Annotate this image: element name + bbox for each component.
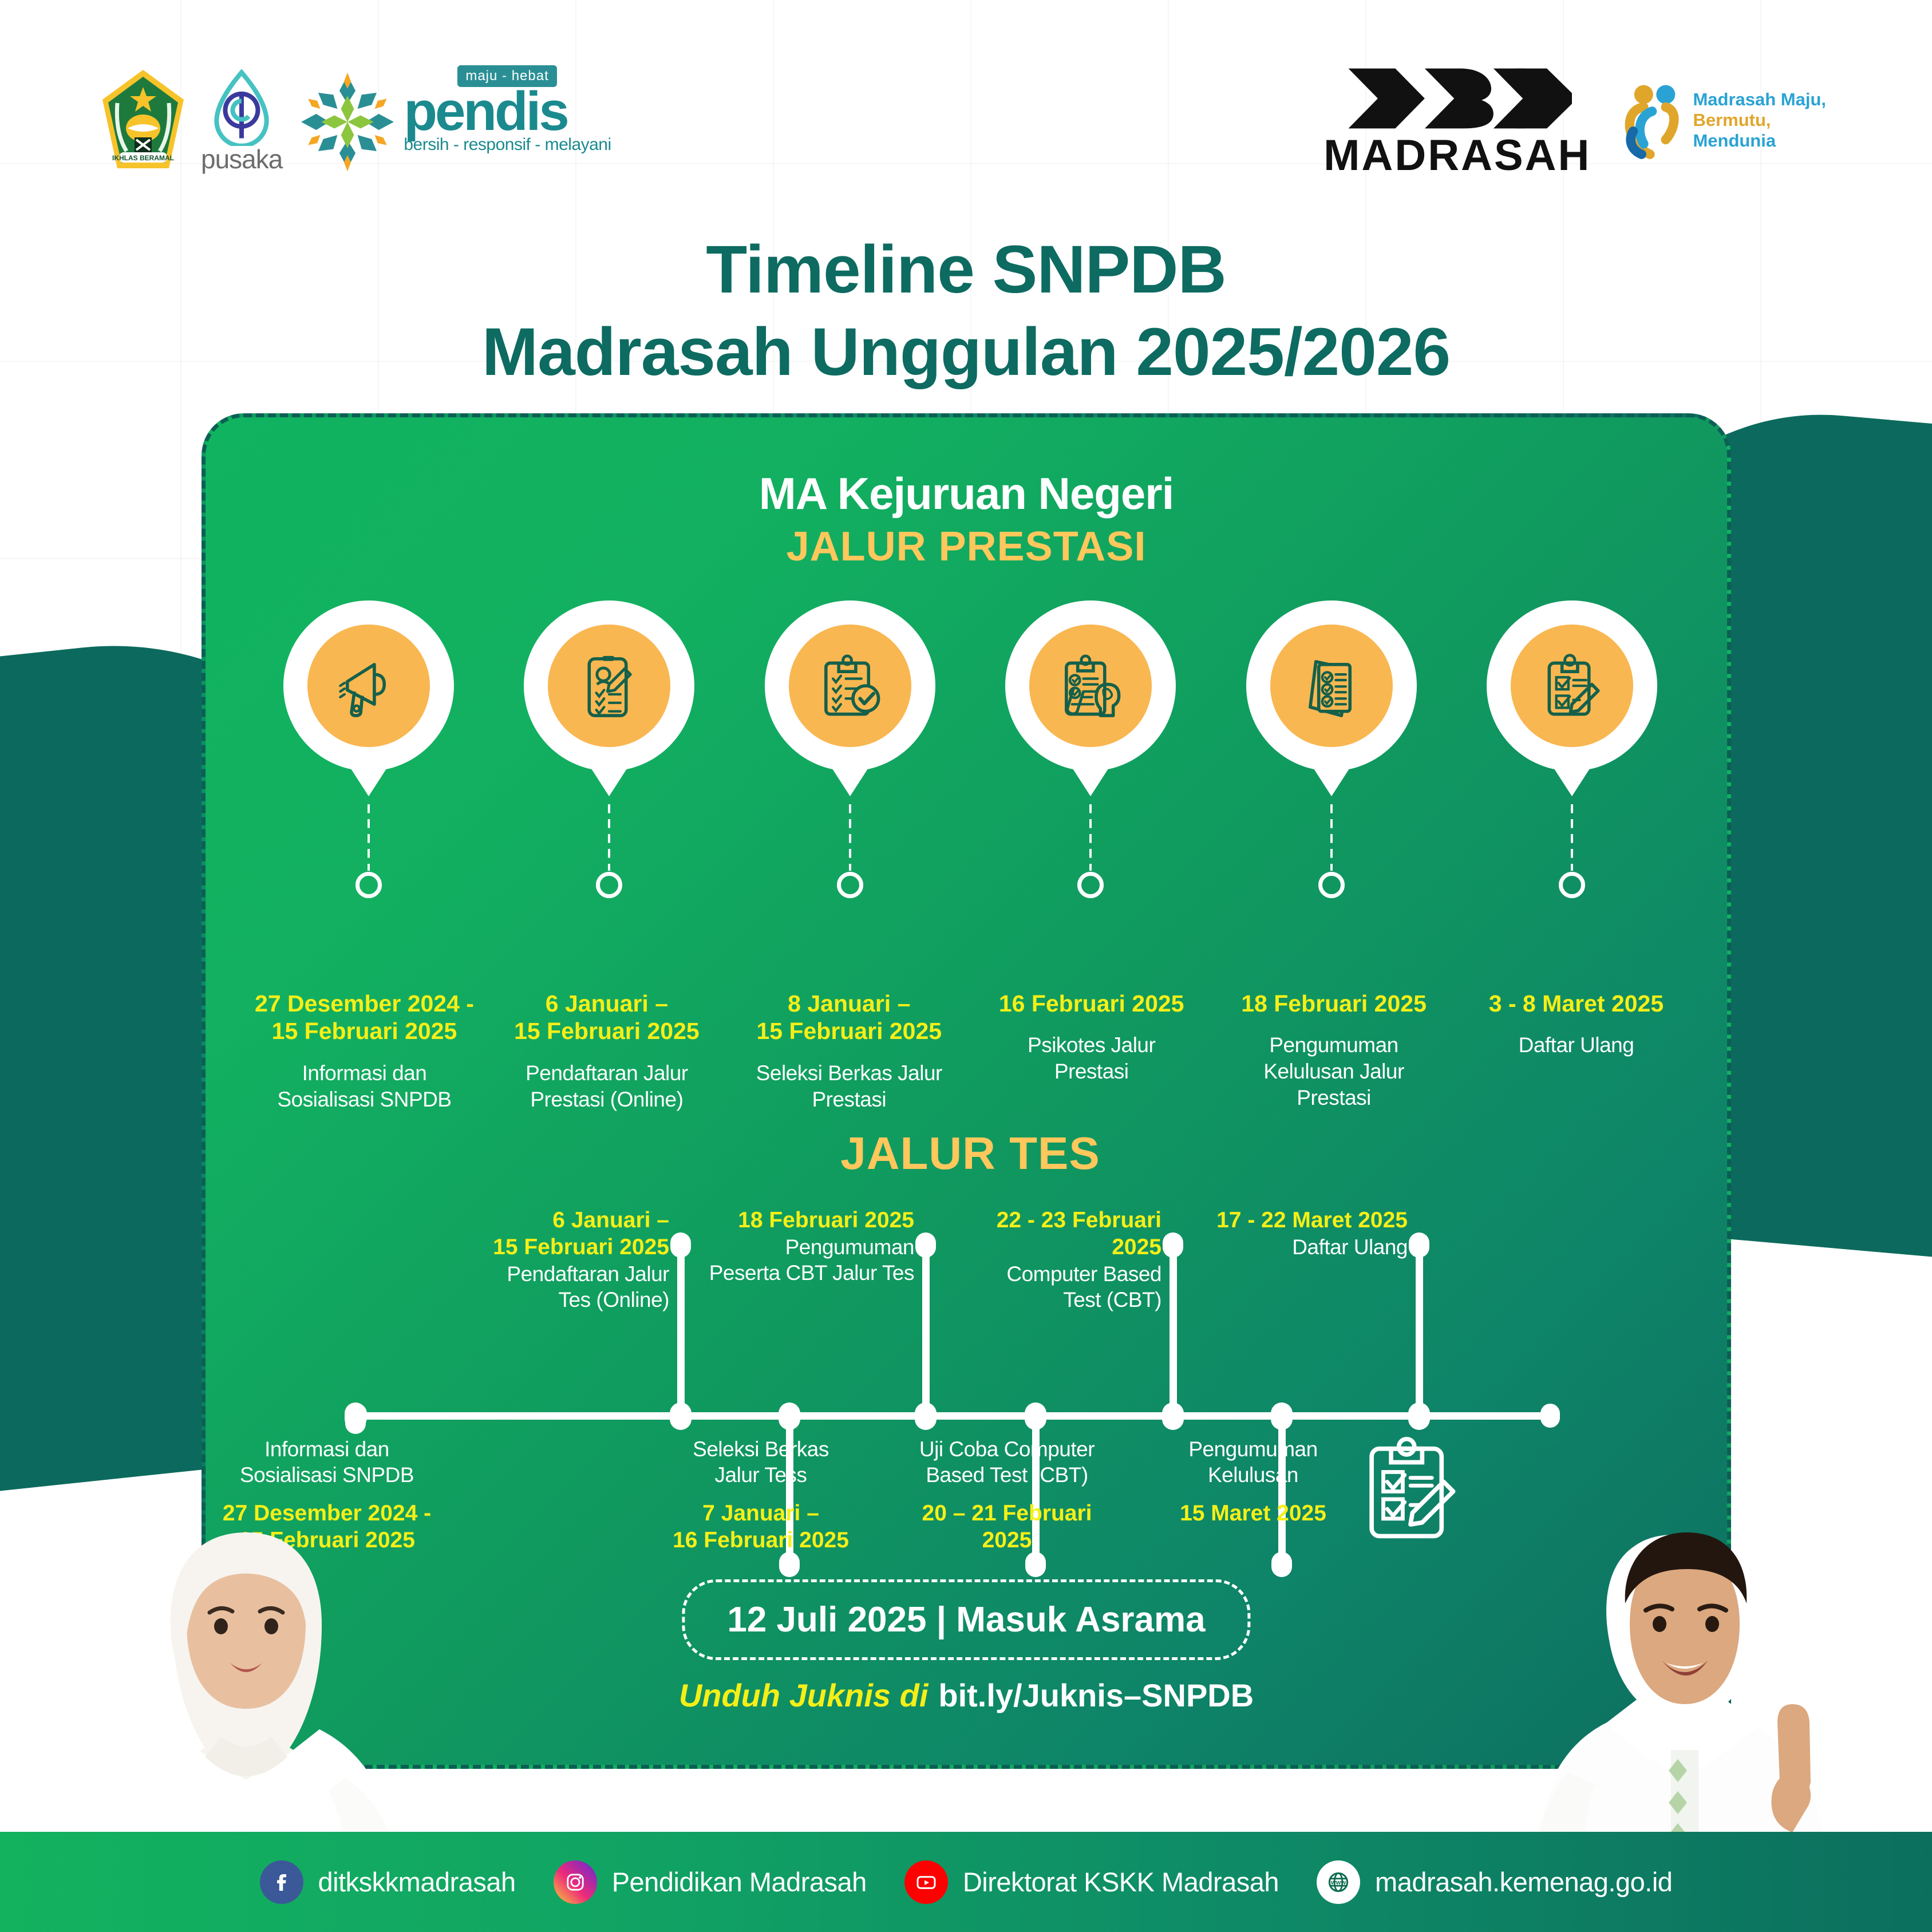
svg-text:IKHLAS BERAMAL: IKHLAS BERAMAL [112, 154, 174, 162]
prestasi-pin-5 [1246, 600, 1417, 771]
prestasi-label: PengumumanKelulusan JalurPrestasi [1221, 1032, 1447, 1111]
psychotest-brain-icon [1029, 625, 1152, 747]
prestasi-date-block-4: 16 Februari 2025Psikotes JalurPrestasi [978, 990, 1204, 1113]
prestasi-step-5 [1237, 600, 1426, 898]
pin-connector [1571, 804, 1573, 871]
page-title: Timeline SNPDB Madrasah Unggulan 2025/20… [0, 229, 1932, 394]
prestasi-step-4 [996, 600, 1185, 898]
footer-item-2[interactable]: Pendidikan Madrasah [554, 1860, 867, 1904]
footer-item-label: Pendidikan Madrasah [612, 1866, 867, 1898]
tes-above-block-3: 22 - 23 Februari2025Computer BasedTest (… [921, 1207, 1161, 1313]
prestasi-date-block-2: 6 Januari –15 Februari 2025Pendaftaran J… [493, 990, 720, 1113]
prestasi-date: 18 Februari 2025 [1221, 990, 1447, 1017]
tes-label: PengumumanPeserta CBT Jalur Tes [674, 1234, 914, 1286]
timeline-node [355, 872, 382, 898]
pin-connector [608, 804, 610, 871]
title-line-2: Madrasah Unggulan 2025/2026 [0, 311, 1932, 394]
unduh-label: Unduh Juknis di [679, 1677, 929, 1713]
footer-item-1[interactable]: ditkskkmadrasah [260, 1860, 516, 1904]
infographic-page: IKHLAS BERAMAL pusaka [0, 0, 1932, 1932]
prestasi-pin-2 [524, 600, 694, 771]
timeline-node [1318, 872, 1345, 898]
timeline-node [596, 872, 622, 898]
facebook-icon[interactable] [260, 1860, 303, 1904]
tes-label: Pendaftaran JalurTes (Online) [429, 1261, 669, 1313]
prestasi-date: 6 Januari –15 Februari 2025 [493, 990, 720, 1045]
tes-below-block-4: PengumumanKelulusan15 Maret 2025 [1133, 1436, 1373, 1527]
prestasi-date-block-5: 18 Februari 2025PengumumanKelulusan Jalu… [1221, 990, 1447, 1113]
website-icon[interactable]: www [1317, 1860, 1360, 1904]
timeline-node [837, 872, 863, 898]
two-people-icon [1621, 80, 1684, 160]
prestasi-pin-3 [765, 600, 935, 771]
pendis-logo: maju - hebat pendis bersih - responsif -… [297, 72, 611, 172]
left-logo-group: IKHLAS BERAMAL pusaka [100, 68, 611, 176]
unduh-link[interactable]: bit.ly/Juknis–SNPDB [938, 1677, 1254, 1713]
pendis-subtitle: bersih - responsif - melayani [404, 135, 611, 155]
unduh-juknis: Unduh Juknis dibit.ly/Juknis–SNPDB [679, 1677, 1254, 1714]
stem-cap [1271, 1552, 1292, 1577]
tes-label: Seleksi BerkasJalur Tess [641, 1436, 881, 1488]
stem-cap [1409, 1232, 1429, 1258]
prestasi-date: 8 Januari –15 Februari 2025 [736, 990, 962, 1045]
prestasi-pin-1 [283, 600, 454, 771]
timeline-node [1559, 872, 1585, 898]
prestasi-label: Daftar Ulang [1463, 1032, 1689, 1058]
prestasi-date-block-3: 8 Januari –15 Februari 2025Seleksi Berka… [736, 990, 962, 1113]
right-logo-group: MADRASAH Madrasah Maju, Bermutu, Menduni… [1323, 63, 1826, 177]
footer-item-label: madrasah.kemenag.go.id [1375, 1866, 1672, 1898]
pendis-label: pendis [404, 89, 611, 135]
tes-below-block-2: Seleksi BerkasJalur Tess7 Januari –16 Fe… [641, 1436, 881, 1554]
pendis-mark-icon [297, 72, 398, 172]
tes-label: Informasi danSosialisasi SNPDB [207, 1436, 447, 1488]
stem-cap [1025, 1552, 1046, 1577]
prestasi-step-6 [1477, 600, 1666, 898]
axis-cap-end [1540, 1404, 1560, 1428]
megaphone-icon [307, 625, 430, 747]
madrasah-label: MADRASAH [1323, 134, 1591, 177]
tes-date: 18 Februari 2025 [674, 1207, 914, 1234]
clipboard-pencil-icon [1362, 1435, 1459, 1544]
header-logos: IKHLAS BERAMAL pusaka [0, 0, 1932, 218]
tes-date: 6 Januari –15 Februari 2025 [429, 1207, 669, 1261]
footer-item-3[interactable]: Direktorat KSKK Madrasah [904, 1860, 1279, 1904]
prestasi-pin-6 [1487, 600, 1657, 771]
documents-list-icon [1270, 625, 1393, 747]
pusaka-logo: pusaka [201, 69, 282, 175]
tes-label: PengumumanKelulusan [1133, 1436, 1373, 1488]
prestasi-date: 27 Desember 2024 -15 Februari 2025 [251, 990, 477, 1045]
tes-above-block-1: 6 Januari –15 Februari 2025Pendaftaran J… [429, 1207, 669, 1313]
mmbm-line3: Mendunia [1693, 131, 1826, 151]
tes-date: 17 - 22 Maret 2025 [1167, 1207, 1408, 1234]
instagram-icon[interactable] [554, 1860, 597, 1904]
title-line-1: Timeline SNPDB [0, 229, 1932, 311]
kemenag-logo: IKHLAS BERAMAL [100, 68, 186, 176]
tes-below-block-3: Uji Coba ComputerBased Test (CBT)20 – 21… [887, 1436, 1127, 1554]
prestasi-label: Psikotes JalurPrestasi [978, 1032, 1204, 1085]
madrasah-maju-logo: Madrasah Maju, Bermutu, Mendunia [1621, 80, 1826, 160]
prestasi-label: Informasi danSosialisasi SNPDB [251, 1060, 477, 1113]
youtube-icon[interactable] [904, 1860, 948, 1904]
tes-date: 20 – 21 Februari2025 [887, 1500, 1127, 1554]
prestasi-step-2 [515, 600, 704, 898]
tes-above-block-2: 18 Februari 2025PengumumanPeserta CBT Ja… [674, 1207, 914, 1286]
prestasi-pin-4 [1005, 600, 1176, 771]
form-register-icon [548, 625, 670, 747]
footer-bar: ditkskkmadrasahPendidikan MadrasahDirekt… [0, 1832, 1932, 1932]
pin-connector [1330, 804, 1333, 871]
footer-item-label: Direktorat KSKK Madrasah [963, 1866, 1279, 1898]
tes-stem-up-3 [1170, 1243, 1177, 1415]
prestasi-date-block-1: 27 Desember 2024 -15 Februari 2025Inform… [251, 990, 477, 1113]
prestasi-date: 16 Februari 2025 [978, 990, 1204, 1017]
tes-label: Daftar Ulang [1167, 1234, 1408, 1260]
mmbm-line1: Madrasah Maju, [1693, 89, 1826, 110]
prestasi-pin-row [206, 600, 1731, 898]
tes-label: Uji Coba ComputerBased Test (CBT) [887, 1436, 1127, 1488]
timeline-node [1077, 872, 1104, 898]
pin-connector [849, 804, 851, 871]
footer-item-label: ditkskkmadrasah [318, 1866, 516, 1898]
prestasi-date-row: 27 Desember 2024 -15 Februari 2025Inform… [206, 990, 1731, 1113]
madrasah-logo: MADRASAH [1323, 63, 1591, 177]
tes-stem-up-4 [1416, 1243, 1423, 1415]
pin-connector [1089, 804, 1092, 871]
footer-item-4[interactable]: wwwmadrasah.kemenag.go.id [1317, 1860, 1672, 1904]
section-title: MA Kejuruan Negeri [206, 468, 1727, 520]
clipboard-pencil-icon [1511, 625, 1633, 747]
prestasi-label: Seleksi Berkas JalurPrestasi [736, 1060, 962, 1113]
prestasi-label: Pendaftaran JalurPrestasi (Online) [493, 1060, 720, 1113]
madrasah-chevrons-icon [1343, 63, 1572, 134]
tes-date: 22 - 23 Februari2025 [921, 1207, 1161, 1261]
prestasi-step-1 [274, 600, 463, 898]
tes-label: Computer BasedTest (CBT) [921, 1261, 1161, 1313]
pusaka-label: pusaka [201, 144, 282, 175]
pin-connector [368, 804, 370, 871]
prestasi-date-block-6: 3 - 8 Maret 2025Daftar Ulang [1463, 990, 1689, 1113]
prestasi-date: 3 - 8 Maret 2025 [1463, 990, 1689, 1017]
tes-section-title: JALUR TES [206, 1127, 1731, 1180]
masuk-asrama-badge: 12 Juli 2025 | Masuk Asrama [682, 1579, 1250, 1660]
pusaka-mark-icon [214, 69, 270, 146]
tes-date: 15 Maret 2025 [1133, 1500, 1373, 1527]
clipboard-check-icon [789, 625, 911, 747]
section-subtitle: JALUR PRESTASI [206, 523, 1727, 570]
pendis-tagline: maju - hebat [457, 65, 556, 87]
svg-text:www: www [1330, 1879, 1346, 1886]
tes-date: 7 Januari –16 Februari 2025 [641, 1500, 881, 1554]
tes-above-block-4: 17 - 22 Maret 2025Daftar Ulang [1167, 1207, 1408, 1260]
stem-cap [345, 1409, 366, 1434]
mmbm-line2: Bermutu, [1693, 110, 1826, 131]
prestasi-step-3 [756, 600, 945, 898]
stem-cap [779, 1552, 800, 1577]
tes-axis-line [355, 1412, 1552, 1420]
